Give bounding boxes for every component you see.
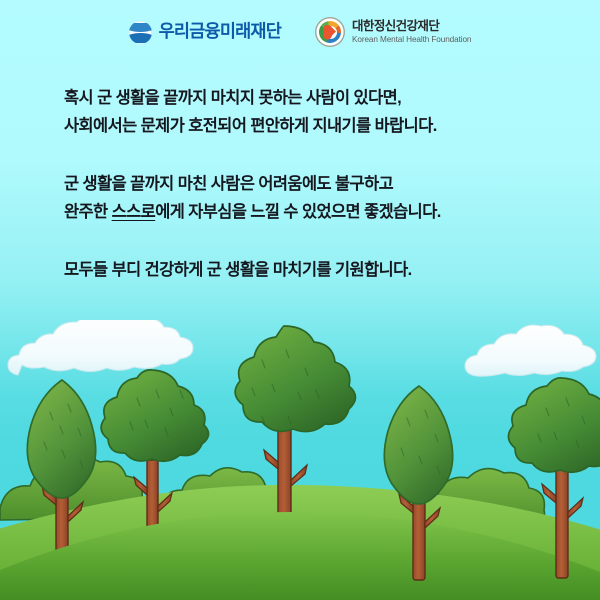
logo-woori-financial-future-foundation: 우리금융미래재단	[129, 21, 281, 44]
kmhf-label-en: Korean Mental Health Foundation	[352, 35, 471, 45]
copy-line: 사회에서는 문제가 호전되어 편안하게 지내기를 바랍니다.	[64, 112, 564, 140]
copy-line-pre: 모두들 부디 건강하게 군 생활을 마치기를 기원합니다.	[64, 261, 412, 279]
cloud-right	[465, 325, 596, 376]
logo-bar: 우리금융미래재단 대한정신건강재단 Korean Mental Health F…	[0, 10, 600, 54]
kmhf-label-ko: 대한정신건강재단	[352, 19, 471, 34]
paragraph-3: 모두들 부디 건강하게 군 생활을 마치기를 기원합니다.	[64, 256, 564, 284]
copy-line-underlined: 스스로	[112, 203, 156, 221]
copy-line-pre: 완주한	[64, 203, 112, 221]
cloud-left	[8, 320, 193, 375]
paragraph-2: 군 생활을 끝까지 마친 사람은 어려움에도 불구하고 완주한 스스로에게 자부…	[64, 170, 564, 226]
copy-line: 혹시 군 생활을 끝까지 마치지 못하는 사람이 있다면,	[64, 84, 564, 112]
copy-line: 모두들 부디 건강하게 군 생활을 마치기를 기원합니다.	[64, 256, 564, 284]
woori-financial-wave-icon	[129, 21, 152, 44]
copy-line-pre: 혹시 군 생활을 끝까지 마치지 못하는 사람이 있다면,	[64, 89, 401, 107]
copy-line-pre: 사회에서는 문제가 호전되어 편안하게 지내기를 바랍니다.	[64, 117, 437, 135]
kmhf-label-block: 대한정신건강재단 Korean Mental Health Foundation	[352, 19, 471, 44]
copy-line: 군 생활을 끝까지 마친 사람은 어려움에도 불구하고	[64, 170, 564, 198]
logo-korean-mental-health-foundation: 대한정신건강재단 Korean Mental Health Foundation	[315, 17, 471, 47]
card-root: 우리금융미래재단 대한정신건강재단 Korean Mental Health F…	[0, 0, 600, 600]
copy-line-post: 에게 자부심을 느낄 수 있었으면 좋겠습니다.	[155, 203, 441, 221]
message-body: 혹시 군 생활을 끝까지 마치지 못하는 사람이 있다면, 사회에서는 문제가 …	[64, 84, 564, 284]
copy-line: 완주한 스스로에게 자부심을 느낄 수 있었으면 좋겠습니다.	[64, 198, 564, 226]
landscape-illustration	[0, 320, 600, 600]
paragraph-1: 혹시 군 생활을 끝까지 마치지 못하는 사람이 있다면, 사회에서는 문제가 …	[64, 84, 564, 140]
korean-mental-health-foundation-seal-icon	[315, 17, 345, 47]
copy-line-pre: 군 생활을 끝까지 마친 사람은 어려움에도 불구하고	[64, 175, 393, 193]
logo-woori-label: 우리금융미래재단	[159, 23, 281, 41]
